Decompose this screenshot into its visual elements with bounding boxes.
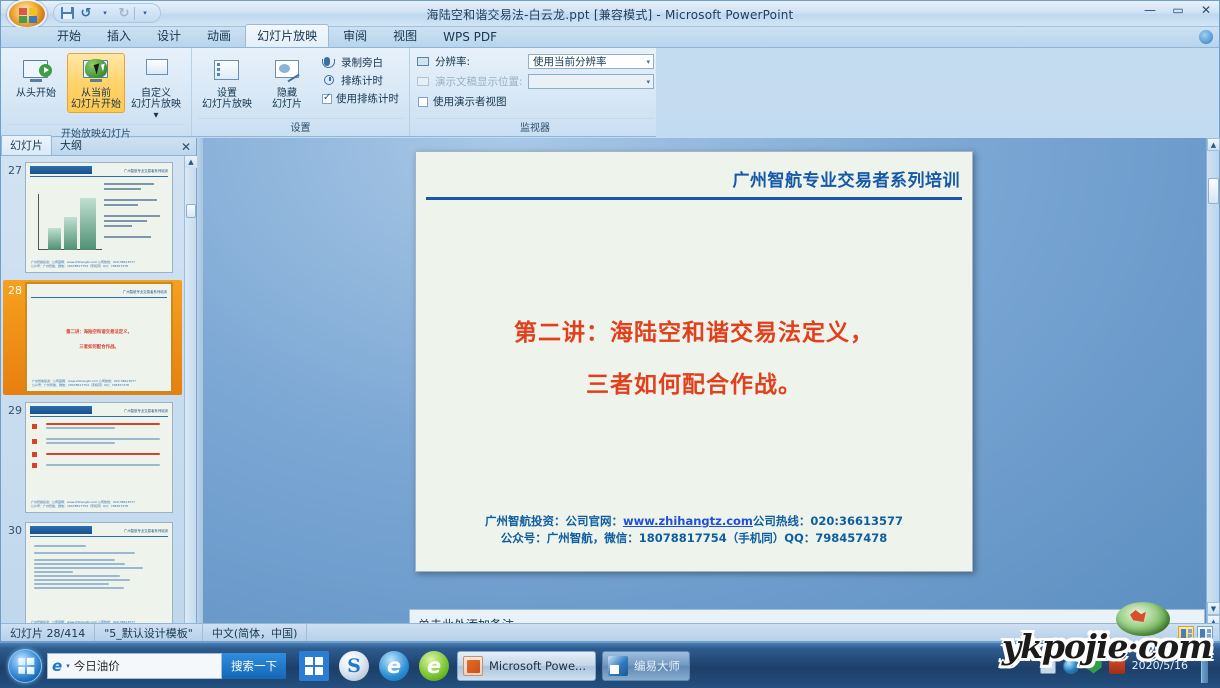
thumbnail-item-current[interactable]: 28 广州智航专业交易者系列培训 第二讲：海陆空和谐交易法定义， 三者如何配合作… xyxy=(3,280,182,395)
microphone-icon xyxy=(322,56,337,70)
from-current-slide-label-2: 幻灯片开始 xyxy=(71,99,121,110)
hide-slide-button[interactable]: 隐藏 幻灯片 xyxy=(258,53,316,113)
checkbox-icon xyxy=(322,94,332,104)
scrollbar-thumb[interactable] xyxy=(186,204,196,218)
ribbon-group-start-slideshow: 从头开始 从当前 幻灯片开始 自定义 幻灯片放映 ▾ xyxy=(1,48,191,136)
thumb-header: 广州智航专业交易者系列培训 xyxy=(30,526,168,535)
maximize-button[interactable]: ▭ xyxy=(1169,3,1187,17)
status-template-name: "5_默认设计模板" xyxy=(95,624,203,641)
setup-slideshow-label-2: 幻灯片放映 xyxy=(202,99,252,110)
watermark-globe-icon xyxy=(1116,602,1170,636)
thumb-paragraphs xyxy=(34,543,164,591)
search-input[interactable]: e ▾ 今日油价 xyxy=(47,653,222,679)
hide-slide-label-1: 隐藏 xyxy=(277,88,297,99)
from-beginning-button[interactable]: 从头开始 xyxy=(7,53,65,102)
status-view-controls xyxy=(1178,626,1219,640)
slides-pane: 幻灯片 大纲 ✕ 27 广州智航专业交易者系列培训 xyxy=(1,138,197,641)
hide-slide-label-2: 幻灯片 xyxy=(272,99,302,110)
record-narration-button[interactable]: 录制旁白 xyxy=(318,54,403,71)
taskbar: e ▾ 今日油价 搜索一下 Microsoft Powe... 编易大师 202… xyxy=(0,642,1220,688)
powerpoint-window: ↺ ▾ ↻ ▾ 海陆空和谐交易法-白云龙.ppt [兼容模式] - Micros… xyxy=(0,0,1220,642)
footer-prefix: 广州智航投资：公司官网： xyxy=(485,514,623,528)
thumb-title-bar xyxy=(30,166,92,174)
thumb-header-text: 广州智航专业交易者系列培训 xyxy=(124,406,168,415)
system-tray: 2020/5/16 xyxy=(1040,649,1216,683)
thumb-rule xyxy=(30,416,168,417)
pane-tab-outline[interactable]: 大纲 xyxy=(52,136,90,155)
thumbnail-item[interactable]: 29 广州智航专业交易者系列培训 xyxy=(3,400,182,515)
taskbar-task-label: 编易大师 xyxy=(634,658,680,674)
hide-slide-icon xyxy=(271,56,303,87)
slide-footer-line-1: 广州智航投资：公司官网：www.zhihangtz.com公司热线：020:36… xyxy=(416,513,972,530)
thumbnail-scrollbar[interactable]: ▲ ▼ xyxy=(184,156,196,641)
thumb-title-line-1: 第二讲：海陆空和谐交易法定义， xyxy=(27,329,171,335)
show-presentation-on-combobox[interactable]: ▾ xyxy=(528,74,654,89)
website-link[interactable]: www.zhihangtz.com xyxy=(623,514,753,528)
windows-tile-icon[interactable] xyxy=(299,651,329,681)
resolution-row: 分辨率: 使用当前分辨率 ▾ xyxy=(416,54,654,69)
taskbar-search: e ▾ 今日油价 搜索一下 xyxy=(47,653,286,679)
thumb-header: 广州智航专业交易者系列培训 xyxy=(30,406,168,415)
checkbox-icon xyxy=(418,97,428,107)
taskbar-task-app[interactable]: 编易大师 xyxy=(602,651,690,681)
status-slide-counter: 幻灯片 28/414 xyxy=(1,624,95,641)
rehearse-timings-button[interactable]: 排练计时 xyxy=(318,72,403,89)
thumbnail-item[interactable]: 30 广州智航专业交易者系列培训 xyxy=(3,520,182,635)
slide-edit-area: 广州智航专业交易者系列培训 第二讲：海陆空和谐交易法定义， 三者如何配合作战。 … xyxy=(203,138,1219,641)
custom-slideshow-button[interactable]: 自定义 幻灯片放映 ▾ xyxy=(127,53,185,124)
chevron-down-icon[interactable]: ▾ xyxy=(66,662,70,670)
close-button[interactable]: ✕ xyxy=(1197,3,1215,17)
tab-review[interactable]: 审阅 xyxy=(331,24,379,47)
ribbon-group-setup: 设置 幻灯片放映 隐藏 幻灯片 录制旁白 xyxy=(191,48,409,136)
help-icon[interactable] xyxy=(1199,30,1213,44)
window-title: 海陆空和谐交易法-白云龙.ppt [兼容模式] - Microsoft Powe… xyxy=(1,6,1219,23)
search-button[interactable]: 搜索一下 xyxy=(222,653,286,679)
show-presentation-on-row: 演示文稿显示位置: ▾ xyxy=(416,74,654,89)
monitor-icon xyxy=(416,56,430,68)
from-current-slide-icon xyxy=(80,56,112,87)
thumb-rule xyxy=(31,297,167,298)
ribbon-group-monitors: 分辨率: 使用当前分辨率 ▾ 演示文稿显示位置: ▾ xyxy=(409,48,660,136)
thumbnail-number: 30 xyxy=(4,522,22,537)
use-rehearsed-timings-label: 使用排练计时 xyxy=(336,91,399,106)
monitor-icon xyxy=(416,76,430,88)
resolution-value: 使用当前分辨率 xyxy=(533,54,607,69)
thumbnail-preview[interactable]: 广州智航专业交易者系列培训 广州智航投资：公司官网：www.zhihangtz.… xyxy=(25,402,173,513)
ie-icon: e xyxy=(52,657,62,675)
slide-footer: 广州智航投资：公司官网：www.zhihangtz.com公司热线：020:36… xyxy=(416,513,972,547)
workspace: 幻灯片 大纲 ✕ 27 广州智航专业交易者系列培训 xyxy=(1,138,1219,641)
thumb-header-text: 广州智航专业交易者系列培训 xyxy=(123,287,167,296)
thumbnail-preview[interactable]: 广州智航专业交易者系列培训 xyxy=(25,162,173,273)
green-browser-icon[interactable] xyxy=(419,651,449,681)
status-bar: 幻灯片 28/414 "5_默认设计模板" 中文(简体，中国) xyxy=(1,623,1219,641)
clock-icon xyxy=(322,74,337,88)
taskbar-task-label: Microsoft Powe... xyxy=(489,659,586,673)
use-presenter-view-row[interactable]: 使用演示者视图 xyxy=(416,94,507,109)
custom-slideshow-label-2: 幻灯片放映 ▾ xyxy=(129,99,183,121)
thumbnail-preview[interactable]: 广州智航专业交易者系列培训 第二讲：海陆空和谐交易法定义， 三者如何配合作战。 … xyxy=(25,282,173,393)
from-beginning-icon xyxy=(20,56,52,87)
slide-scrollbar[interactable]: ▲ ▼ ▲ ▼ xyxy=(1206,138,1219,641)
show-presentation-on-label: 演示文稿显示位置: xyxy=(435,74,523,89)
slide-title-line-1: 第二讲：海陆空和谐交易法定义， xyxy=(416,307,972,359)
setup-slideshow-label-1: 设置 xyxy=(217,88,237,99)
setup-small-commands: 录制旁白 排练计时 使用排练计时 xyxy=(318,53,403,107)
thumb-footer: 广州智航投资：公司官网：www.zhihangtz.com 公司热线：020:3… xyxy=(31,260,167,268)
slide-sorter-view-button[interactable] xyxy=(1197,626,1213,640)
custom-slideshow-label-1: 自定义 xyxy=(141,88,171,99)
group-label-setup: 设置 xyxy=(198,118,403,136)
from-beginning-label: 从头开始 xyxy=(16,88,56,99)
thumb-body-text xyxy=(104,183,166,241)
ie-icon[interactable] xyxy=(379,651,409,681)
thumbnail-list[interactable]: 27 广州智航专业交易者系列培训 xyxy=(1,156,184,641)
thumb-footer: 广州智航投资：公司官网：www.zhihangtz.com 公司热线：020:3… xyxy=(32,379,166,387)
window-controls: — ▭ ✕ xyxy=(1141,3,1215,17)
group-label-monitors: 监视器 xyxy=(416,118,654,136)
use-presenter-view-label: 使用演示者视图 xyxy=(433,94,507,109)
normal-view-button[interactable] xyxy=(1178,626,1194,640)
slide-header-title: 广州智航专业交易者系列培训 xyxy=(733,166,961,191)
tab-home[interactable]: 开始 xyxy=(45,24,93,47)
taskbar-clock[interactable]: 2020/5/16 xyxy=(1132,660,1188,672)
thumbnail-preview[interactable]: 广州智航专业交易者系列培训 xyxy=(25,522,173,633)
taskbar-task-powerpoint[interactable]: Microsoft Powe... xyxy=(457,651,596,681)
use-rehearsed-timings-checkbox[interactable]: 使用排练计时 xyxy=(318,90,403,107)
thumb-title-bar xyxy=(30,526,92,534)
slides-pane-tabs: 幻灯片 大纲 ✕ xyxy=(1,138,196,156)
thumb-header: 广州智航专业交易者系列培训 xyxy=(30,166,168,175)
from-current-slide-button[interactable]: 从当前 幻灯片开始 xyxy=(67,53,125,113)
app-icon xyxy=(608,656,628,676)
minimize-button[interactable]: — xyxy=(1141,3,1159,17)
start-button[interactable] xyxy=(8,649,42,683)
slide-header-rule xyxy=(426,197,962,200)
ribbon: 从头开始 从当前 幻灯片开始 自定义 幻灯片放映 ▾ xyxy=(1,48,656,137)
pane-tab-slides[interactable]: 幻灯片 xyxy=(1,135,52,155)
record-narration-label: 录制旁白 xyxy=(341,55,383,70)
thumb-bullets xyxy=(32,421,166,473)
from-current-slide-label-1: 从当前 xyxy=(81,88,111,99)
thumb-rule xyxy=(30,176,168,177)
update-icon[interactable] xyxy=(1109,658,1125,674)
thumbnail-number: 29 xyxy=(4,402,22,417)
scroll-up-icon[interactable]: ▲ xyxy=(185,156,197,168)
thumb-header-text: 广州智航专业交易者系列培训 xyxy=(124,526,168,535)
show-desktop-button[interactable] xyxy=(1201,649,1208,683)
scroll-up-icon[interactable]: ▲ xyxy=(1207,138,1220,151)
slide-footer-line-2: 公众号：广州智航，微信：18078817754（手机同）QQ：798457478 xyxy=(416,530,972,547)
custom-slideshow-icon xyxy=(140,56,172,87)
thumb-title-bar xyxy=(30,406,92,414)
thumb-title-line-2: 三者如何配合作战。 xyxy=(27,344,171,350)
thumb-chart xyxy=(38,194,102,250)
tab-animations[interactable]: 动画 xyxy=(195,24,243,47)
thumbnail-number: 27 xyxy=(4,162,22,177)
thumb-header-text: 广州智航专业交易者系列培训 xyxy=(124,166,168,175)
tab-insert[interactable]: 插入 xyxy=(95,24,143,47)
tab-view[interactable]: 视图 xyxy=(381,24,429,47)
sogou-icon[interactable] xyxy=(339,651,369,681)
footer-suffix: 公司热线：020:36613577 xyxy=(753,514,903,528)
setup-slideshow-icon xyxy=(211,56,243,87)
tab-slideshow[interactable]: 幻灯片放映 xyxy=(245,24,329,47)
tab-design[interactable]: 设计 xyxy=(145,24,193,47)
powerpoint-icon xyxy=(463,656,483,676)
setup-slideshow-button[interactable]: 设置 幻灯片放映 xyxy=(198,53,256,113)
keyboard-icon[interactable] xyxy=(1040,658,1056,674)
network-icon[interactable] xyxy=(1063,658,1079,674)
chevron-down-icon: ▾ xyxy=(646,78,650,86)
scroll-down-icon[interactable]: ▼ xyxy=(1207,602,1220,615)
scrollbar-thumb[interactable] xyxy=(1208,178,1219,204)
resolution-combobox[interactable]: 使用当前分辨率 ▾ xyxy=(528,54,654,69)
rehearse-timings-label: 排练计时 xyxy=(341,73,383,88)
shield-icon[interactable] xyxy=(1086,658,1102,674)
status-language: 中文(简体，中国) xyxy=(203,624,308,641)
chevron-down-icon: ▾ xyxy=(646,58,650,66)
resolution-label: 分辨率: xyxy=(435,54,523,69)
ribbon-tab-strip: 开始 插入 设计 动画 幻灯片放映 审阅 视图 WPS PDF xyxy=(1,27,1219,48)
close-pane-icon[interactable]: ✕ xyxy=(181,140,191,154)
thumbnail-item[interactable]: 27 广州智航专业交易者系列培训 xyxy=(3,160,182,275)
thumb-header: 广州智航专业交易者系列培训 xyxy=(31,287,167,296)
thumb-rule xyxy=(30,536,168,537)
slide-title-line-2: 三者如何配合作战。 xyxy=(416,359,972,411)
desktop-background: ↺ ▾ ↻ ▾ 海陆空和谐交易法-白云龙.ppt [兼容模式] - Micros… xyxy=(0,0,1220,688)
current-slide[interactable]: 广州智航专业交易者系列培训 第二讲：海陆空和谐交易法定义， 三者如何配合作战。 … xyxy=(415,151,973,572)
thumbnail-number: 28 xyxy=(4,282,22,297)
search-input-value: 今日油价 xyxy=(74,658,120,674)
thumb-footer: 广州智航投资：公司官网：www.zhihangtz.com 公司热线：020:3… xyxy=(31,500,167,508)
tab-wps-pdf[interactable]: WPS PDF xyxy=(431,27,509,47)
slide-body[interactable]: 第二讲：海陆空和谐交易法定义， 三者如何配合作战。 xyxy=(416,307,972,411)
